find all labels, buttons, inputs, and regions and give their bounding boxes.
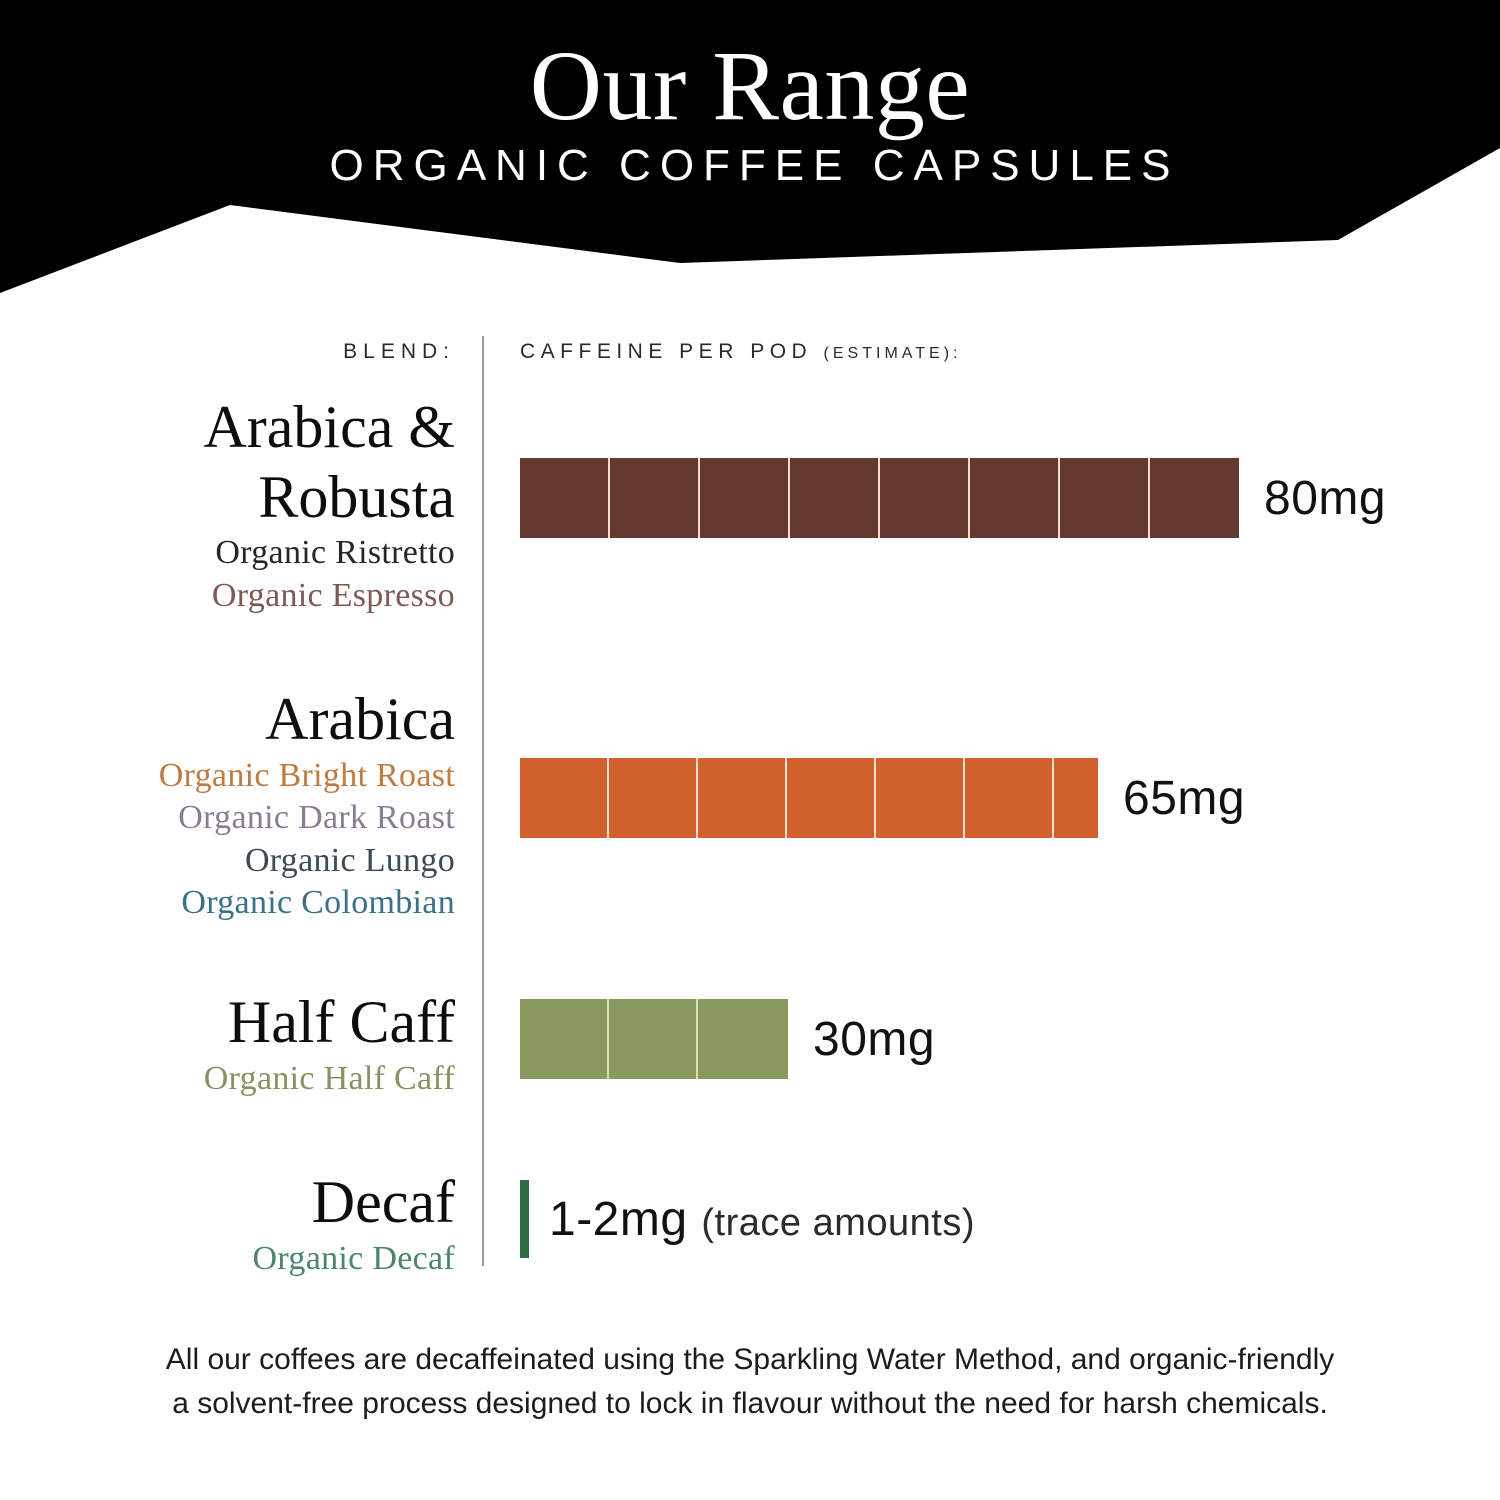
trace-amount-tick [520,1180,529,1258]
bar-value-label: 65mg [1123,771,1245,826]
variant-label: Organic Bright Roast [120,755,455,798]
caffeine-bar [520,999,788,1079]
bar-segment [965,758,1054,838]
row-labels: Half Caff Organic Half Caff [120,988,455,1100]
bar-segment [790,458,880,538]
blend-name: Arabica [120,685,455,755]
variant-label: Organic Ristretto [120,532,455,575]
bar-segment [610,458,700,538]
bar-segment [609,758,698,838]
bar-segment [1150,458,1239,538]
footer-line-2: a solvent-free process designed to lock … [0,1382,1500,1426]
bar-segment [698,758,787,838]
bar-segment [787,758,876,838]
blend-name: Decaf [120,1168,455,1238]
blend-name: Half Caff [120,988,455,1058]
bar-row: 1-2mg (trace amounts) [520,1180,975,1258]
variant-label: Organic Lungo [120,840,455,883]
variant-label: Organic Espresso [120,575,455,618]
row-labels: Decaf Organic Decaf [120,1168,455,1280]
variant-label: Organic Decaf [120,1238,455,1281]
bar-value-number: 1-2mg [549,1193,688,1246]
bar-segment [698,999,788,1079]
row-labels: Arabica Organic Bright Roast Organic Dar… [120,685,455,925]
bar-segment [520,758,609,838]
caffeine-bar [520,458,1239,538]
bar-row: 30mg [520,999,935,1079]
variant-label: Organic Colombian [120,882,455,925]
bar-segment-half [1054,758,1098,838]
bar-value-label: 80mg [1264,471,1386,526]
footer-note: All our coffees are decaffeinated using … [0,1338,1500,1425]
bar-row: 80mg [520,458,1386,538]
caffeine-bar [520,758,1098,838]
bar-value-label: 30mg [813,1012,935,1067]
bar-segment [520,999,609,1079]
bar-segment [970,458,1060,538]
bar-segment [609,999,698,1079]
bar-segment [520,458,610,538]
bar-row: 65mg [520,758,1245,838]
variant-label: Organic Half Caff [120,1058,455,1101]
chart-rows: Arabica & Robusta Organic Ristretto Orga… [0,0,1500,1500]
blend-name: Arabica & Robusta [120,393,455,532]
bar-segment [880,458,970,538]
bar-value-label: 1-2mg (trace amounts) [549,1192,975,1247]
footer-line-1: All our coffees are decaffeinated using … [0,1338,1500,1382]
variant-label: Organic Dark Roast [120,797,455,840]
bar-segment [700,458,790,538]
bar-segment [876,758,965,838]
row-labels: Arabica & Robusta Organic Ristretto Orga… [120,393,455,617]
bar-value-note: (trace amounts) [701,1202,975,1244]
bar-segment [1060,458,1150,538]
